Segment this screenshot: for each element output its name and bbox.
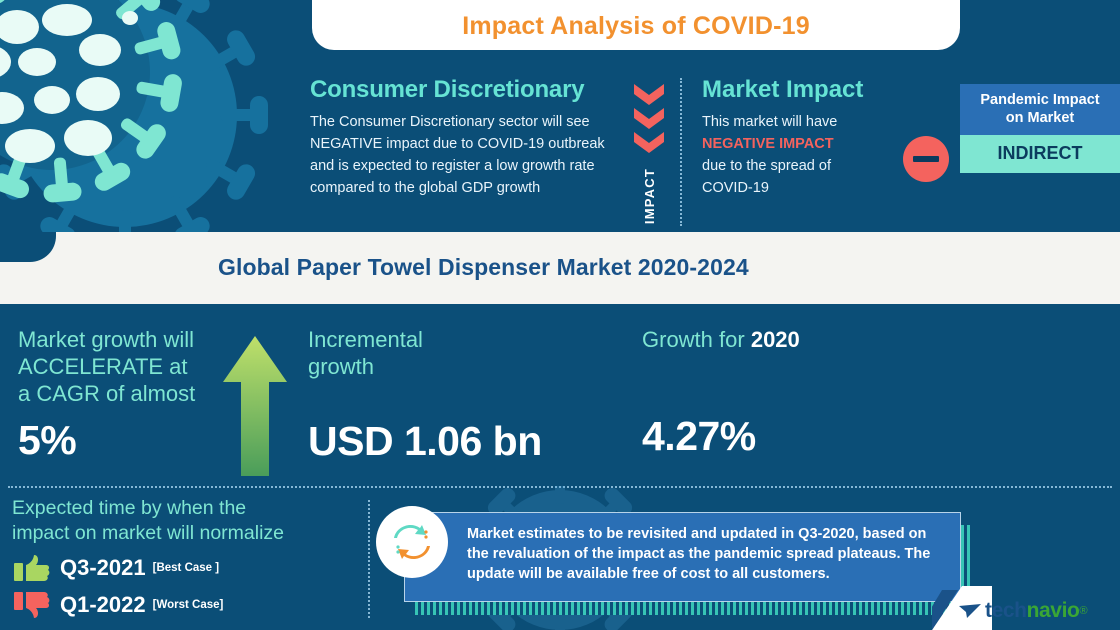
top-impact-band: Impact Analysis of COVID-19 Consumer Dis…	[0, 0, 1120, 232]
best-case-quarter: Q3-2021	[60, 555, 146, 581]
thumbs-up-icon	[12, 553, 52, 583]
stat-incremental-value: USD 1.06 bn	[308, 380, 608, 465]
market-impact-emphasis: NEGATIVE IMPACT	[702, 133, 902, 155]
callout-box: Market estimates to be revisited and upd…	[404, 512, 961, 602]
chevron-down-icon	[632, 130, 666, 172]
coronavirus-decoration-front	[0, 0, 202, 222]
pandemic-impact-header: Pandemic Impact on Market	[960, 84, 1120, 135]
stat-growth-2020: Growth for 2020 4.27%	[642, 304, 882, 486]
key-stats-row: Market growth will ACCELERATE at a CAGR …	[0, 304, 1120, 486]
normalize-heading-line1: Expected time by when the	[12, 496, 364, 521]
logo-trademark: ®	[1079, 605, 1087, 617]
stat-incremental-line1: Incremental	[308, 326, 608, 353]
market-impact-block: Market Impact This market will have NEGA…	[702, 76, 902, 199]
header-title-pill: Impact Analysis of COVID-19	[312, 0, 960, 50]
page-title: Impact Analysis of COVID-19	[462, 12, 810, 50]
technavio-plane-icon	[958, 601, 982, 621]
best-case-label: [Best Case ]	[153, 562, 219, 574]
normalize-heading-line2: impact on market will normalize	[12, 521, 364, 546]
normalize-block: Expected time by when the impact on mark…	[12, 496, 364, 620]
coronavirus-decoration-back	[0, 0, 290, 232]
worst-case-label: [Worst Case]	[153, 599, 224, 611]
impact-indicator-negative: IMPACT	[628, 82, 670, 224]
sync-refresh-icon	[376, 506, 448, 578]
stat-cagr: Market growth will ACCELERATE at a CAGR …	[18, 304, 288, 486]
infographic-root: Impact Analysis of COVID-19 Consumer Dis…	[0, 0, 1120, 630]
market-impact-line2: due to the spread of	[702, 155, 902, 177]
pandemic-impact-header-line2: on Market	[966, 109, 1114, 127]
consumer-discretionary-body: The Consumer Discretionary sector will s…	[310, 111, 610, 199]
market-impact-heading: Market Impact	[702, 76, 902, 104]
worst-case-quarter: Q1-2022	[60, 592, 146, 618]
stat-incremental-line2: growth	[308, 353, 608, 380]
logo-text-secondary: navio	[1027, 599, 1080, 623]
stat-incremental-growth: Incremental growth USD 1.06 bn	[308, 304, 608, 486]
sync-refresh-glyph	[389, 519, 435, 565]
corner-blob-decoration	[0, 232, 56, 262]
impact-label-vertical: IMPACT	[642, 168, 657, 224]
pandemic-impact-header-line1: Pandemic Impact	[966, 91, 1114, 109]
divider-vertical	[680, 78, 682, 226]
market-impact-line1: This market will have	[702, 111, 902, 133]
list-item: Q3-2021 [Best Case ]	[12, 553, 364, 583]
thumbs-down-icon	[12, 590, 52, 620]
market-title-band: Global Paper Towel Dispenser Market 2020…	[0, 232, 1120, 304]
list-item: Q1-2022 [Worst Case]	[12, 590, 364, 620]
callout-text: Market estimates to be revisited and upd…	[405, 513, 960, 584]
consumer-discretionary-heading: Consumer Discretionary	[310, 76, 610, 104]
up-arrow-icon	[223, 336, 287, 476]
stat-growth-value: 4.27%	[642, 353, 882, 460]
consumer-discretionary-block: Consumer Discretionary The Consumer Disc…	[310, 76, 610, 199]
logo-text-primary: tech	[985, 599, 1027, 623]
pandemic-impact-card: Pandemic Impact on Market INDIRECT	[960, 84, 1120, 173]
divider-horizontal	[8, 486, 1112, 488]
pandemic-impact-value: INDIRECT	[960, 135, 1120, 173]
divider-vertical	[368, 500, 370, 618]
stat-growth-label: Growth for	[642, 327, 745, 352]
market-title: Global Paper Towel Dispenser Market 2020…	[218, 254, 749, 281]
minus-circle-icon	[903, 136, 949, 182]
stat-growth-year: 2020	[751, 327, 800, 352]
market-impact-line3: COVID-19	[702, 177, 902, 199]
technavio-logo[interactable]: technavio®	[958, 596, 1108, 626]
